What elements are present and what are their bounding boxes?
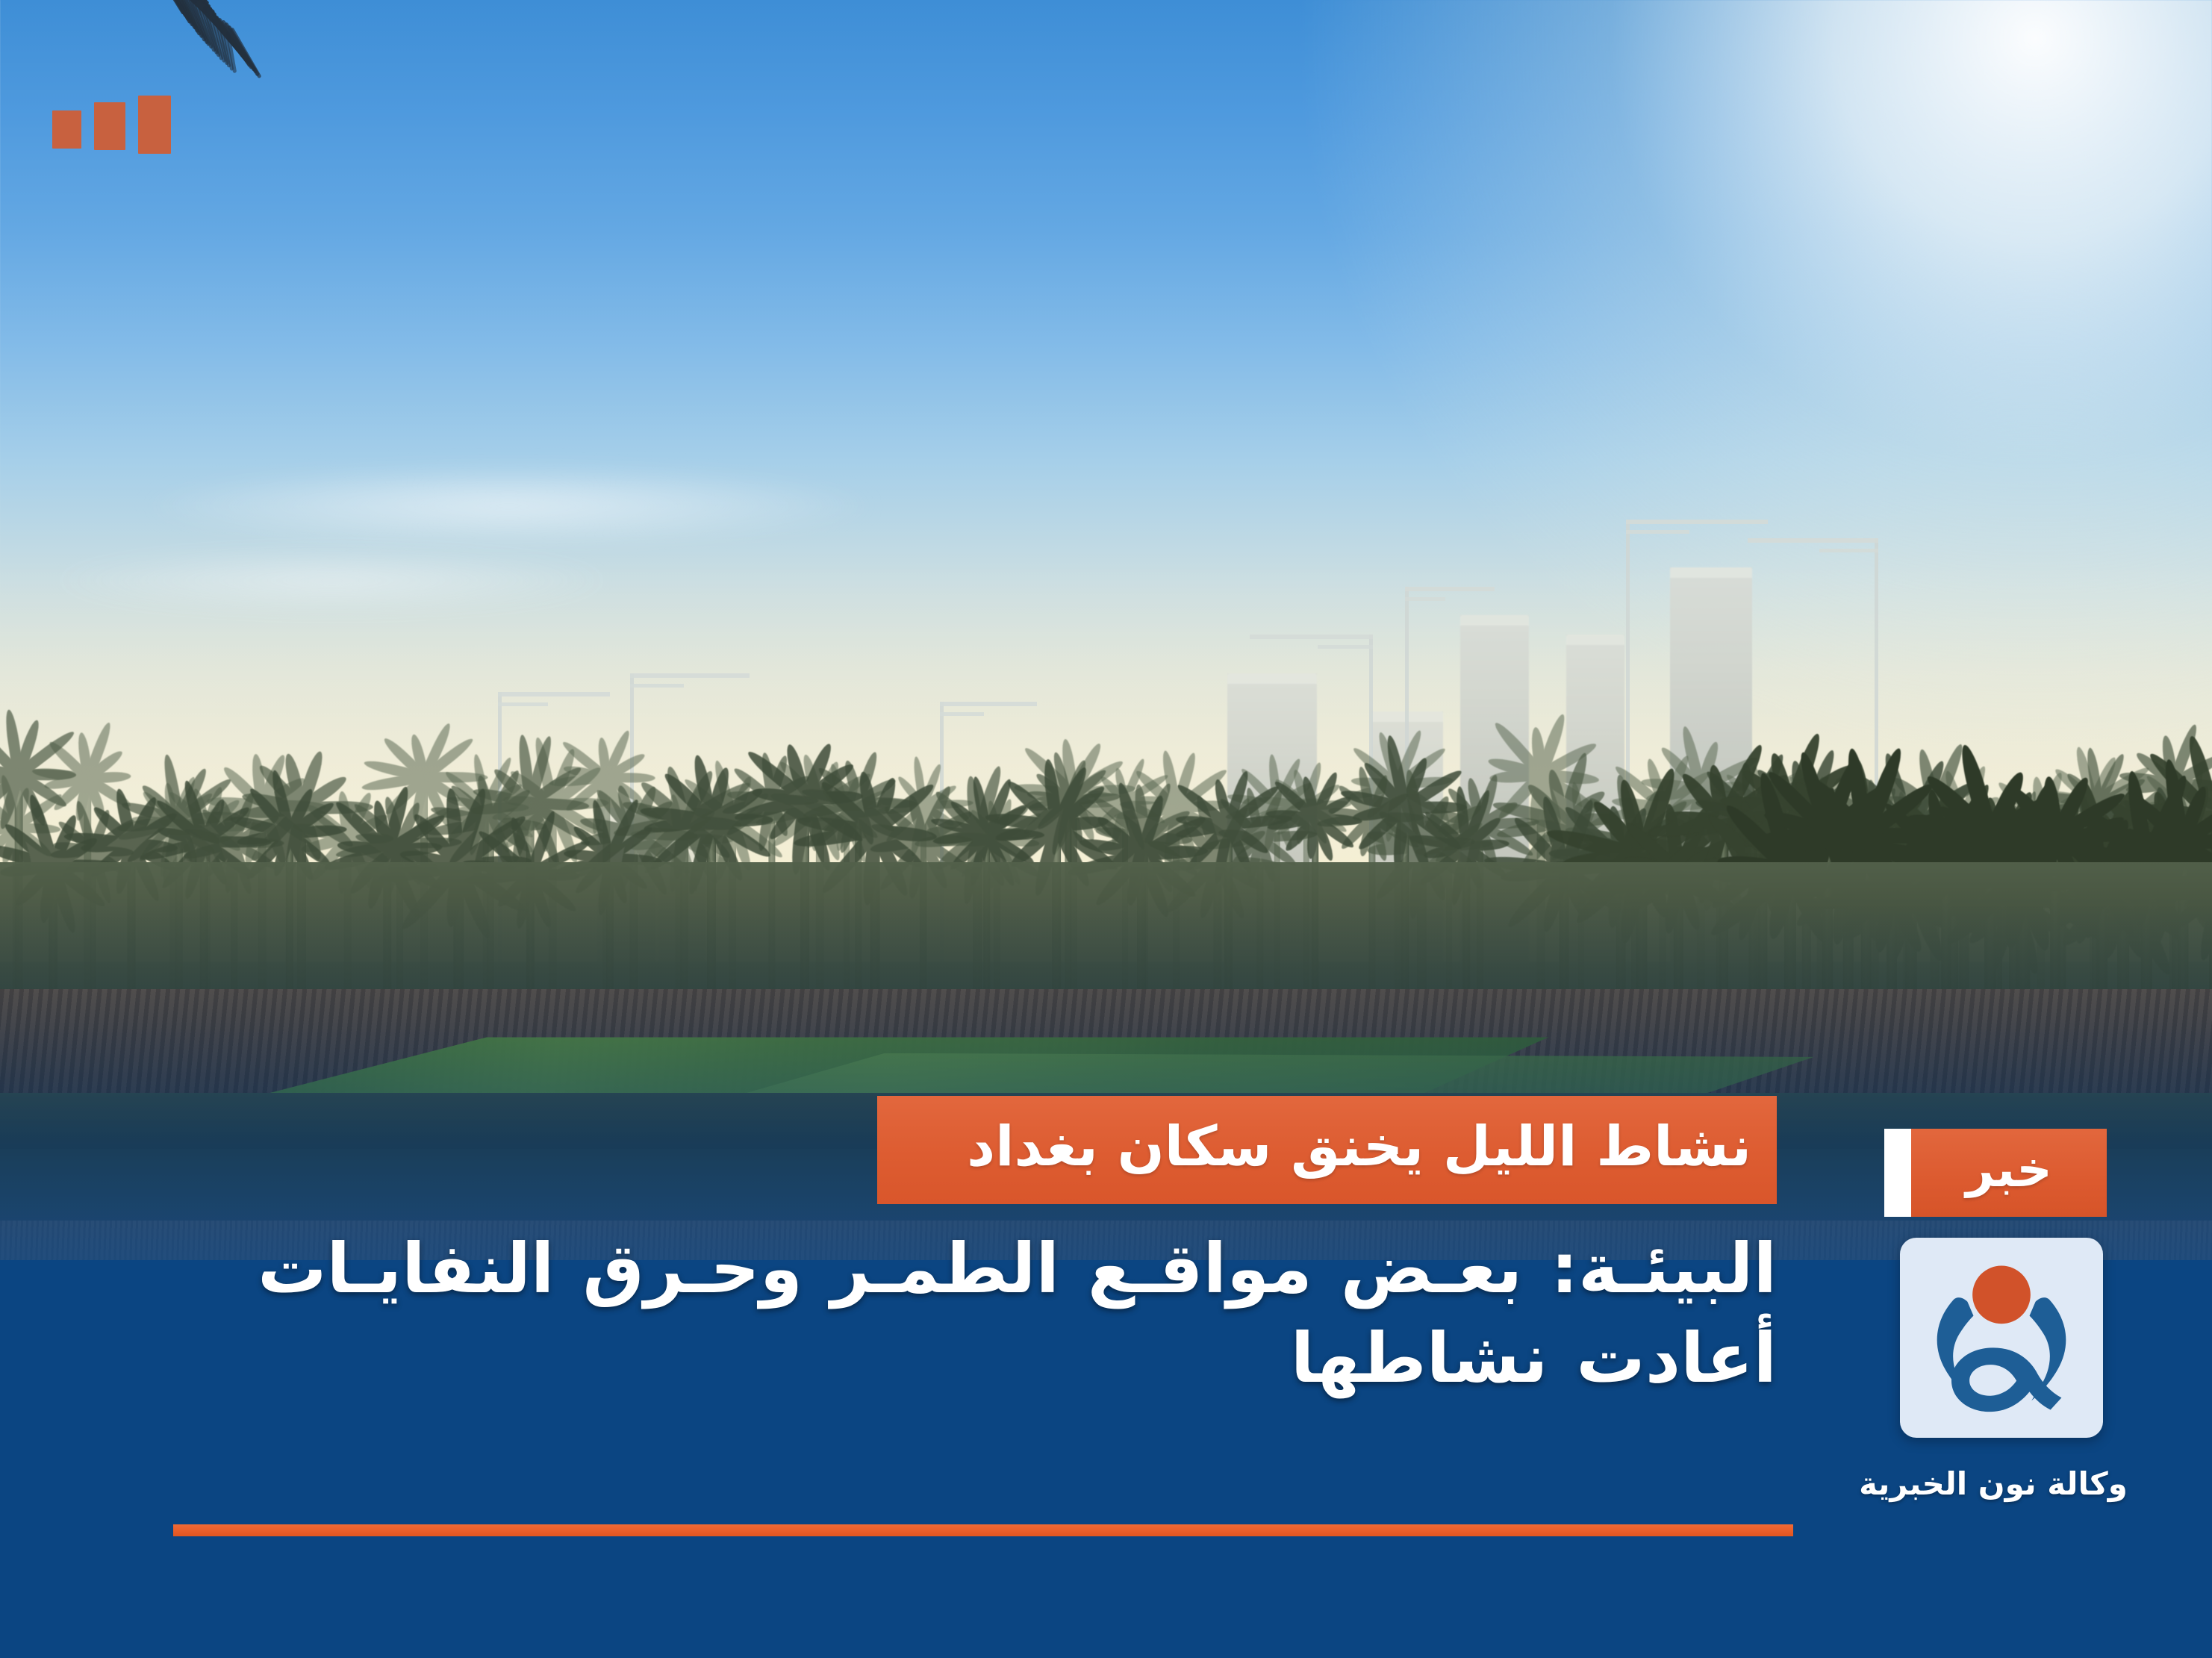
headline: البيئـة: بعـض مواقـع الطمـر وحـرق النفاي… xyxy=(105,1224,1777,1403)
agency-name: وكالة نون الخبرية xyxy=(1814,1465,2172,1504)
palm-crown xyxy=(0,732,76,806)
news-badge-fill: خبر xyxy=(1911,1129,2107,1217)
corner-bar xyxy=(138,96,171,154)
news-badge-white-tab xyxy=(1884,1129,1911,1217)
agency-logo xyxy=(1900,1238,2103,1438)
news-badge: خبر xyxy=(1884,1129,2107,1217)
corner-bar xyxy=(52,110,81,149)
news-card: نشاط الليل يخنق سكان بغداد البيئـة: بعـض… xyxy=(0,0,2212,1658)
corner-bar xyxy=(94,102,125,150)
corner-bars-mark xyxy=(52,96,171,154)
kicker-text: نشاط الليل يخنق سكان بغداد xyxy=(967,1119,1751,1174)
headline-line-2: أعادت نشاطها xyxy=(105,1314,1777,1403)
logo-orange-dot xyxy=(1972,1266,2031,1324)
background-photo xyxy=(0,0,2212,1658)
orange-divider-rule xyxy=(173,1524,1793,1536)
palm-crown xyxy=(806,780,944,869)
kicker-banner: نشاط الليل يخنق سكان بغداد xyxy=(877,1096,1777,1204)
news-badge-label: خبر xyxy=(1966,1145,2052,1200)
headline-line-1: البيئـة: بعـض مواقـع الطمـر وحـرق النفاي… xyxy=(105,1224,1777,1314)
